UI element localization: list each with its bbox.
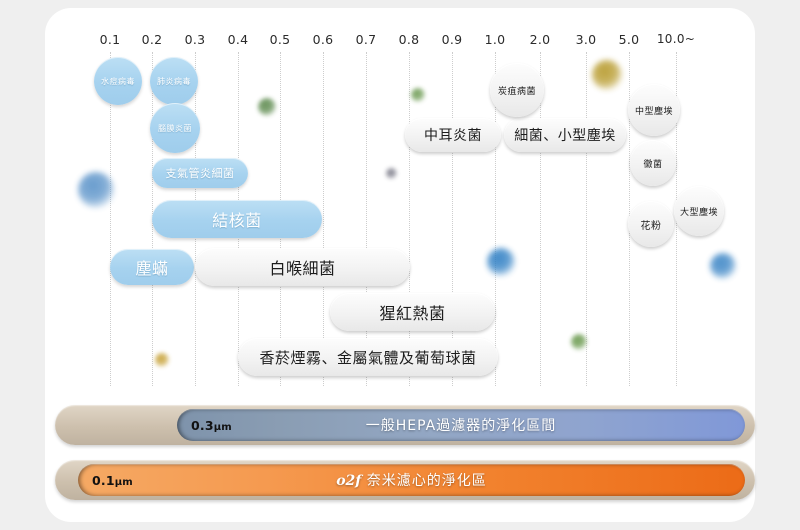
range-bar-fill-o2f: 0.1µmo2f 奈米濾心的淨化區	[78, 464, 745, 496]
particle-pill: 塵蟎	[110, 249, 194, 285]
range-bar-fill-hepa: 0.3µm一般HEPA過濾器的淨化區間	[177, 409, 745, 441]
spore-blob-green-mid	[411, 88, 425, 102]
scale-tick-label: 0.7	[356, 32, 377, 47]
particle-pill: 水痘病毒	[94, 57, 142, 105]
gridline	[409, 52, 410, 386]
range-start-unit: µm	[115, 477, 133, 488]
scale-tick-label: 2.0	[530, 32, 551, 47]
dust-blob-dark	[386, 168, 397, 179]
gridline	[586, 52, 587, 386]
particle-pill: 白喉細菌	[195, 248, 410, 286]
scale-tick-label: 0.6	[313, 32, 334, 47]
range-caption-o2f: o2f 奈米濾心的淨化區	[78, 470, 745, 490]
gridline	[452, 52, 453, 386]
range-start-value-hepa: 0.3µm	[177, 418, 232, 433]
range-start-unit: µm	[214, 422, 232, 433]
scale-tick-label: 0.5	[270, 32, 291, 47]
particle-pill: 黴菌	[630, 140, 676, 186]
gridline	[366, 52, 367, 386]
scale-tick-label: 0.4	[228, 32, 249, 47]
range-bar-track-o2f: 0.1µmo2f 奈米濾心的淨化區	[55, 460, 755, 500]
range-caption-text: 一般HEPA過濾器的淨化區間	[366, 418, 557, 434]
scale-tick-label: 0.3	[185, 32, 206, 47]
particle-pill: 猩紅熱菌	[330, 293, 495, 331]
pollen-blob-yellow-low	[155, 353, 169, 367]
scale-tick-label: 0.8	[399, 32, 420, 47]
range-caption-hepa: 一般HEPA過濾器的淨化區間	[177, 415, 745, 435]
range-caption-text: 奈米濾心的淨化區	[367, 473, 487, 489]
virus-blob-blue-right	[710, 253, 736, 279]
gridline	[323, 52, 324, 386]
particle-pill: 香菸煙霧、金屬氣體及葡萄球菌	[238, 338, 498, 376]
particle-pill: 結核菌	[152, 200, 322, 238]
range-start-number: 0.3	[191, 418, 214, 433]
range-bar-track-hepa: 0.3µm一般HEPA過濾器的淨化區間	[55, 405, 755, 445]
infographic-canvas: 0.10.20.30.40.50.60.70.80.91.02.03.05.01…	[0, 0, 800, 530]
scale-tick-label: 10.0~	[657, 32, 695, 46]
scale-tick-label: 0.9	[442, 32, 463, 47]
virus-blob-blue-center	[487, 248, 515, 276]
scale-tick-label: 0.2	[142, 32, 163, 47]
spore-blob-green-upper	[258, 98, 276, 116]
particle-pill: 腦膜炎菌	[150, 103, 200, 153]
spore-blob-green-lower	[571, 334, 587, 350]
particle-pill: 花粉	[628, 201, 674, 247]
range-start-value-o2f: 0.1µm	[78, 473, 133, 488]
particle-pill: 細菌、小型塵埃	[504, 118, 626, 152]
scale-tick-label: 3.0	[576, 32, 597, 47]
particle-pill: 中型塵埃	[628, 84, 680, 136]
scale-tick-label: 5.0	[619, 32, 640, 47]
particle-pill: 大型塵埃	[674, 186, 724, 236]
particle-pill: 炭疽病菌	[490, 63, 544, 117]
particle-pill: 肺炎病毒	[150, 57, 198, 105]
brand-logo-text: o2f	[336, 473, 361, 489]
particle-pill: 支氣管炎細菌	[152, 158, 248, 188]
pollen-cluster-yellow	[592, 60, 622, 90]
scale-tick-label: 0.1	[100, 32, 121, 47]
range-start-number: 0.1	[92, 473, 115, 488]
scale-tick-label: 1.0	[485, 32, 506, 47]
virus-blob-blue-left	[78, 172, 114, 208]
particle-pill: 中耳炎菌	[405, 118, 501, 152]
